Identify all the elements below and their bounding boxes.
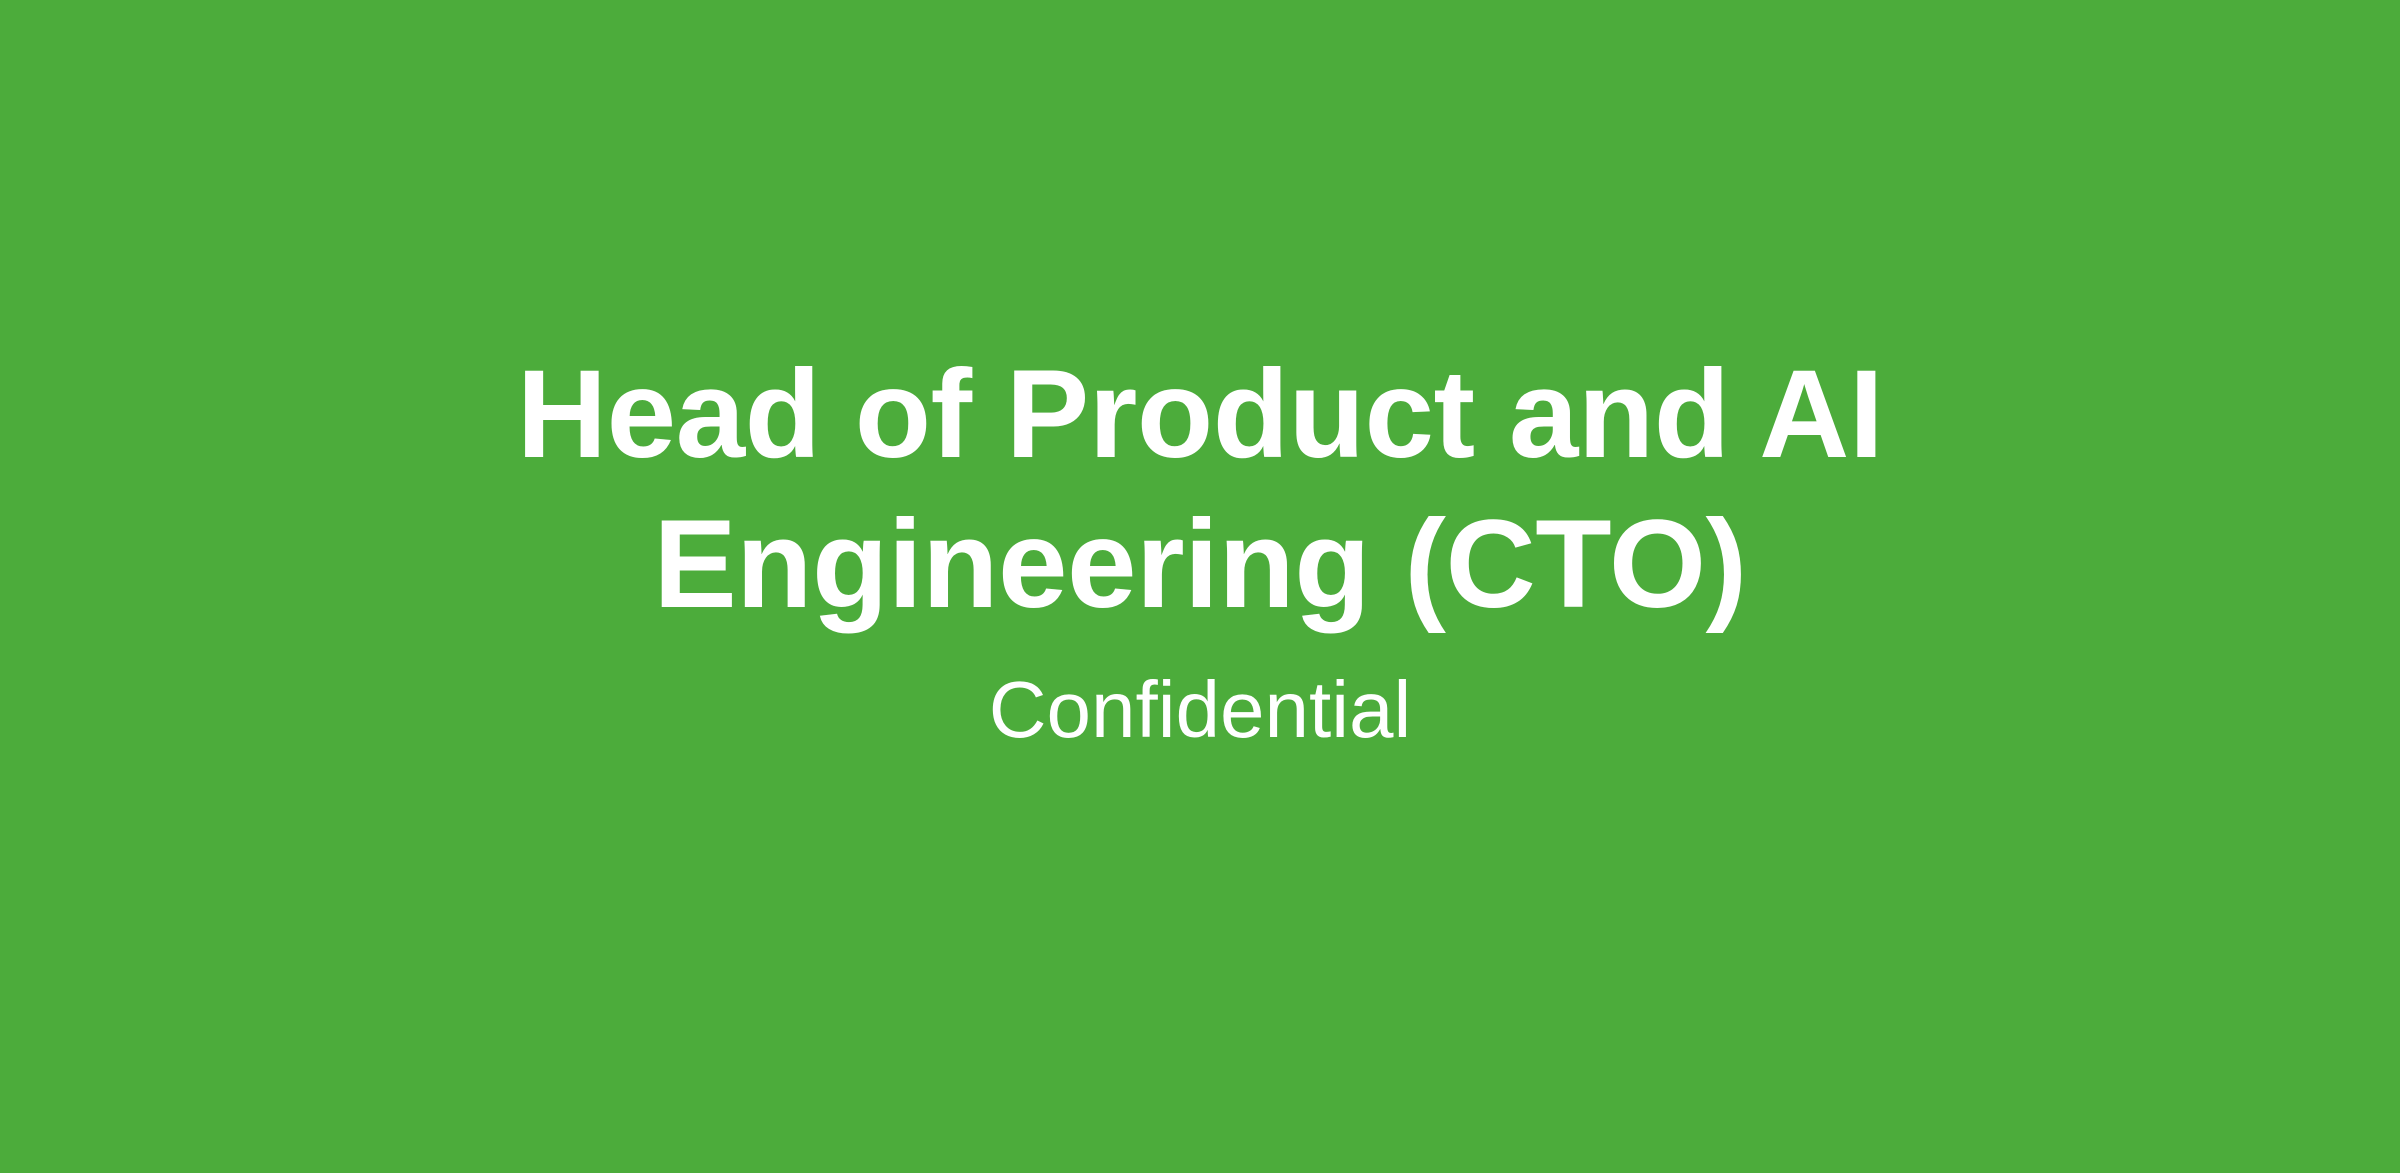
page-subtitle: Confidential — [989, 640, 1412, 758]
page-title: Head of Product and AI Engineering (CTO) — [420, 340, 1980, 640]
cover-text-block: Head of Product and AI Engineering (CTO)… — [0, 340, 2400, 758]
cover-slide: Head of Product and AI Engineering (CTO)… — [0, 0, 2400, 1173]
